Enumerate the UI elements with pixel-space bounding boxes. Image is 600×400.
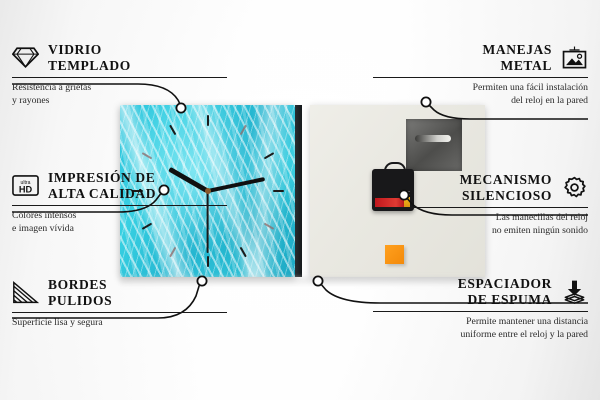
feature-rule	[373, 311, 588, 312]
feature-title: BORDES PULIDOS	[48, 277, 112, 308]
title-line: ALTA CALIDAD	[48, 186, 156, 202]
title-line: ESPACIADOR	[458, 276, 552, 292]
picture-frame-icon	[561, 45, 588, 70]
feature-rule	[12, 205, 227, 206]
title-line: VIDRIO	[48, 42, 131, 58]
desc-line: no emiten ningún sonido	[373, 225, 588, 238]
desc-line: e imagen vívida	[12, 223, 227, 236]
title-line: MANEJAS	[483, 42, 552, 58]
hour-tick	[207, 256, 209, 267]
feature-header: MECANISMO SILENCIOSO	[373, 172, 588, 203]
clock-side-edge	[295, 105, 302, 277]
feature-header: VIDRIO TEMPLADO	[12, 42, 227, 73]
feature-title: IMPRESIÓN DE ALTA CALIDAD	[48, 170, 156, 201]
feature-title: VIDRIO TEMPLADO	[48, 42, 131, 73]
feature-rule	[12, 312, 227, 313]
foam-spacer	[385, 245, 404, 264]
title-line: PULIDOS	[48, 293, 112, 309]
feature-mecanismo-silencioso: MECANISMO SILENCIOSO Las manecillas del …	[373, 172, 588, 238]
hanger-slot	[415, 135, 451, 142]
title-line: IMPRESIÓN DE	[48, 170, 156, 186]
down-arrow-stack-icon	[561, 279, 588, 304]
svg-text:HD: HD	[19, 185, 33, 195]
feature-espaciador-espuma: ESPACIADOR DE ESPUMA Permite mantener un…	[373, 276, 588, 342]
desc-line: Resistencia a grietas	[12, 82, 227, 95]
ultra-hd-icon: ultra HD	[12, 173, 39, 198]
desc-line: Permite mantener una distancia	[373, 316, 588, 329]
feature-header: ESPACIADOR DE ESPUMA	[373, 276, 588, 307]
feature-title: MECANISMO SILENCIOSO	[460, 172, 552, 203]
feature-rule	[373, 207, 588, 208]
title-line: MECANISMO	[460, 172, 552, 188]
polished-edges-icon	[12, 280, 39, 305]
desc-line: Colores intensos	[12, 210, 227, 223]
gear-icon	[561, 175, 588, 200]
diamond-icon	[12, 45, 39, 70]
desc-line: y rayones	[12, 95, 227, 108]
feature-desc: Colores intensos e imagen vívida	[12, 210, 227, 235]
feature-desc: Resistencia a grietas y rayones	[12, 82, 227, 107]
desc-line: Las manecillas del reloj	[373, 212, 588, 225]
feature-desc: Permiten una fácil instalación del reloj…	[373, 82, 588, 107]
title-line: DE ESPUMA	[458, 292, 552, 308]
feature-rule	[373, 77, 588, 78]
infographic-canvas: VIDRIO TEMPLADO Resistencia a grietas y …	[0, 0, 600, 400]
hour-tick	[207, 115, 209, 126]
title-line: METAL	[483, 58, 552, 74]
feature-title: MANEJAS METAL	[483, 42, 552, 73]
hour-tick	[273, 190, 284, 192]
metal-hanger-bracket	[406, 119, 462, 171]
feature-impresion-alta-calidad: ultra HD IMPRESIÓN DE ALTA CALIDAD Color…	[12, 170, 227, 236]
feature-title: ESPACIADOR DE ESPUMA	[458, 276, 552, 307]
feature-desc: Las manecillas del reloj no emiten ningú…	[373, 212, 588, 237]
desc-line: Superficie lisa y segura	[12, 317, 227, 330]
feature-header: MANEJAS METAL	[373, 42, 588, 73]
feature-header: ultra HD IMPRESIÓN DE ALTA CALIDAD	[12, 170, 227, 201]
feature-vidrio-templado: VIDRIO TEMPLADO Resistencia a grietas y …	[12, 42, 227, 108]
feature-rule	[12, 77, 227, 78]
feature-desc: Permite mantener una distancia uniforme …	[373, 316, 588, 341]
feature-bordes-pulidos: BORDES PULIDOS Superficie lisa y segura	[12, 277, 227, 330]
desc-line: Permiten una fácil instalación	[373, 82, 588, 95]
title-line: TEMPLADO	[48, 58, 131, 74]
feature-desc: Superficie lisa y segura	[12, 317, 227, 330]
desc-line: uniforme entre el reloj y la pared	[373, 329, 588, 342]
desc-line: del reloj en la pared	[373, 95, 588, 108]
feature-header: BORDES PULIDOS	[12, 277, 227, 308]
feature-manejas-metal: MANEJAS METAL Permiten una fácil instala…	[373, 42, 588, 108]
title-line: SILENCIOSO	[460, 188, 552, 204]
title-line: BORDES	[48, 277, 112, 293]
